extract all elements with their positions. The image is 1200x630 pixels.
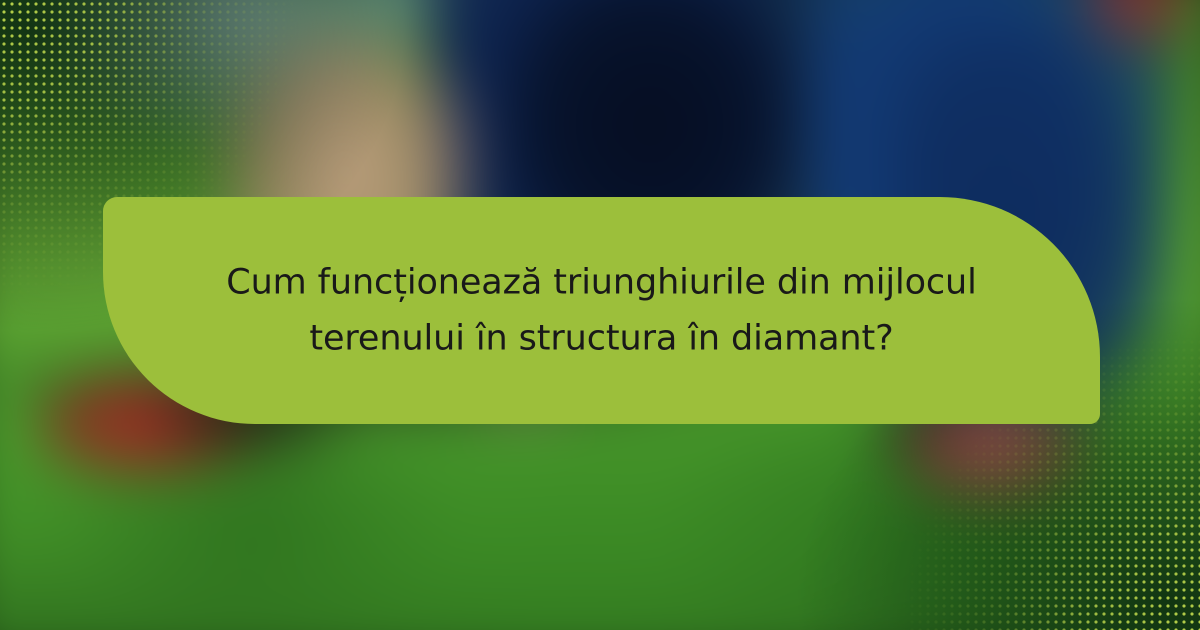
- question-card: Cum funcționează triunghiurile din mijlo…: [103, 197, 1100, 424]
- social-card-canvas: Cum funcționează triunghiurile din mijlo…: [0, 0, 1200, 630]
- question-text: Cum funcționează triunghiurile din mijlo…: [103, 254, 1100, 367]
